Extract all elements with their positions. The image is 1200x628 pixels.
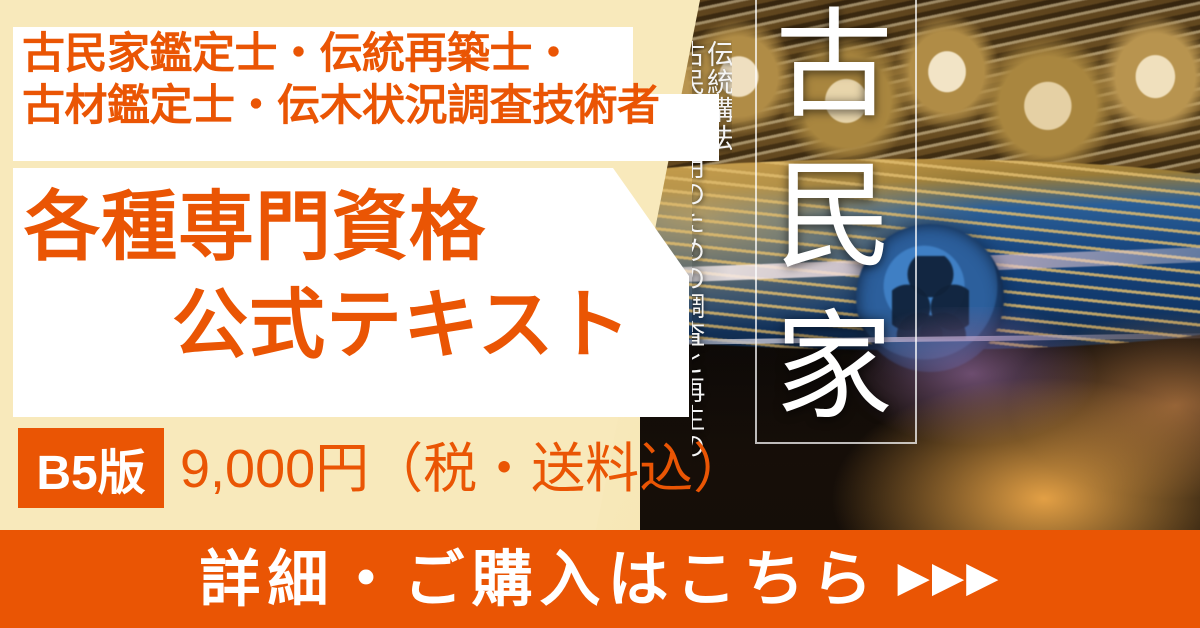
headline-line-2: 公式テキスト [172,288,632,364]
cover-title-char-1: 古 [775,8,893,126]
cta-label: 詳細・ご購入はこちら [200,549,880,610]
cover-title-char-2: 民 [775,159,893,277]
cta-bar[interactable]: 詳細・ご購入はこちら ▶▶▶ [0,530,1200,628]
size-badge: B5版 [18,428,164,508]
cover-title-char-3: 家 [775,310,893,428]
promotional-banner: 古 民 家 伝統構法 古民家活用のための調査と再生の 古民家鑑定士・伝統再築士・… [0,0,1200,628]
price-text: 9,000円（税・送料込） [180,433,747,506]
cover-title-vertical: 古 民 家 [768,8,900,428]
qualifications-text: 古民家鑑定士・伝統再築士・ 古材鑑定士・伝木状況調査技術者 [22,28,722,133]
headline-line-1: 各種専門資格 [24,190,486,266]
chevron-right-triple-icon: ▶▶▶ [898,556,1001,598]
